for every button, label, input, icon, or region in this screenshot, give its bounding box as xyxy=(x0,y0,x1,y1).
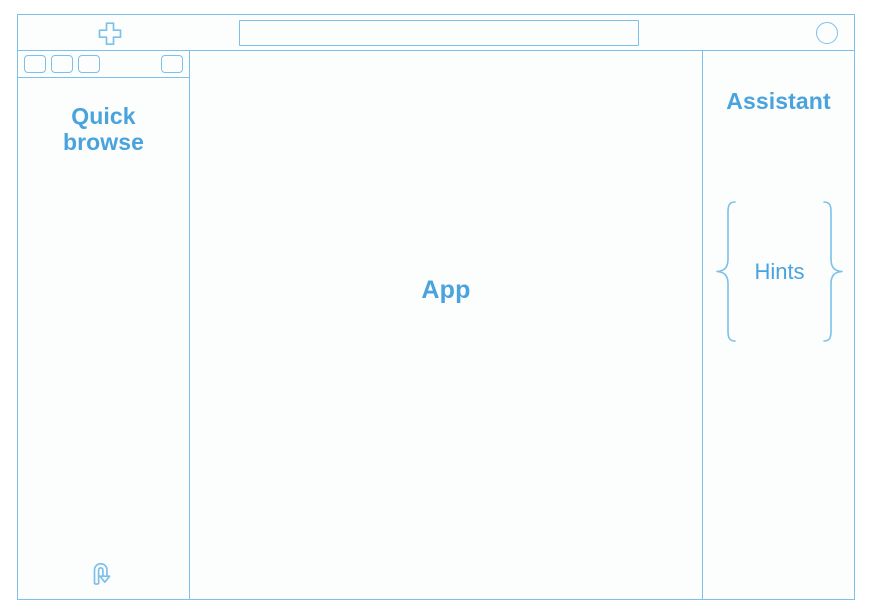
sidebar-tool-button-4[interactable] xyxy=(161,55,183,73)
sidebar-toolbar xyxy=(18,51,189,78)
sidebar-tool-button-2[interactable] xyxy=(51,55,73,73)
app-label: App xyxy=(190,16,702,564)
hints-brace-right-icon xyxy=(820,199,846,344)
u-turn-arrow-icon xyxy=(87,557,119,587)
sidebar-tool-button-3[interactable] xyxy=(78,55,100,73)
sidebar-tool-button-1[interactable] xyxy=(24,55,46,73)
assistant-title: Assistant xyxy=(703,88,854,115)
quick-browse-title: Quick browse xyxy=(18,104,189,156)
quick-browse-title-line-2: browse xyxy=(18,130,189,156)
undo-button[interactable] xyxy=(87,557,119,587)
app-window: Quick browse App xyxy=(17,14,855,600)
quick-browse-sidebar: Quick browse xyxy=(18,51,190,599)
wireframe-canvas: Quick browse App xyxy=(0,0,879,616)
window-body: Quick browse App xyxy=(18,51,854,599)
assistant-panel: Assistant Hints xyxy=(703,51,854,599)
add-new-button[interactable] xyxy=(96,21,124,47)
plus-icon xyxy=(96,21,124,47)
app-content-pane: App xyxy=(190,51,703,599)
sidebar-content: Quick browse xyxy=(18,78,189,599)
hints-group: Hints xyxy=(711,199,848,344)
quick-browse-title-line-1: Quick xyxy=(18,104,189,130)
avatar[interactable] xyxy=(816,22,838,44)
